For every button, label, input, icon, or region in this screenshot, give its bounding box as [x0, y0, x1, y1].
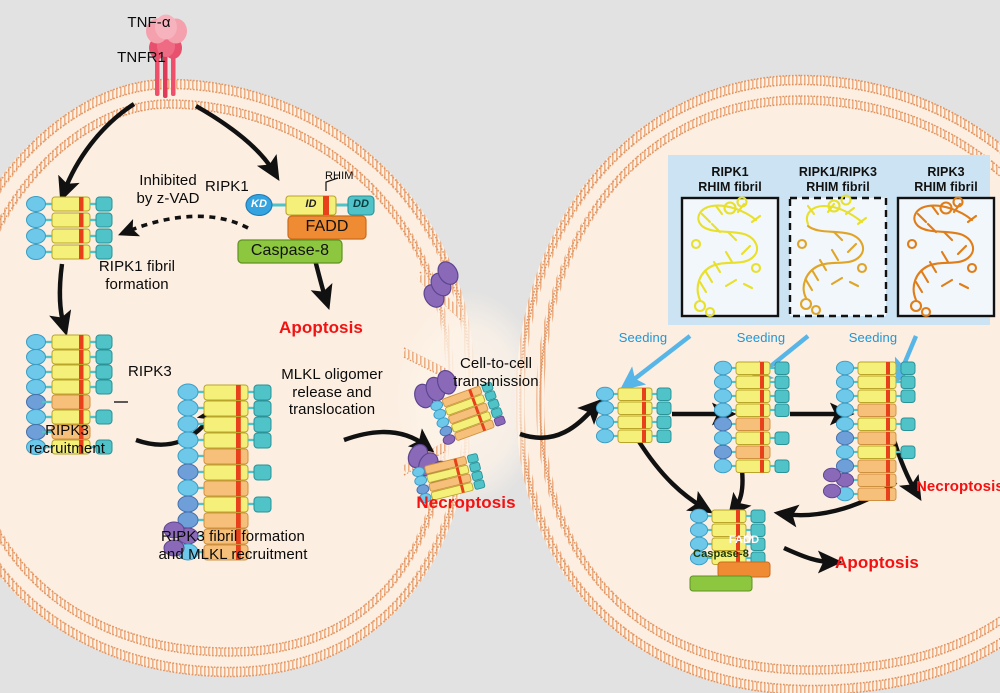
- necroptosis-label-middle: Necroptosis: [406, 493, 526, 513]
- ripk3-recruitment-label: RIPK3 recruitment: [8, 422, 126, 457]
- inset-title-ripk3: RIPK3 RHIM fibril: [898, 165, 994, 195]
- inset-title-ripk1: RIPK1 RHIM fibril: [682, 165, 778, 195]
- mlkl-oligomer-label: MLKL oligomer release and translocation: [272, 366, 392, 419]
- cell-to-cell-transmission-label: Cell-to-cell transmission: [438, 355, 554, 390]
- rhim-domain-label: RHIM: [325, 170, 373, 183]
- ripk3-fibril-formation-label: RIPK3 fibril formation and MLKL recruitm…: [138, 528, 328, 563]
- ripk1-fibril-formation-label: RIPK1 fibril formation: [82, 258, 192, 293]
- fadd-label: FADD: [288, 218, 366, 237]
- kd-domain-label: KD: [246, 198, 272, 211]
- caspase8-label-right: Caspase-8: [690, 548, 752, 561]
- seeding-label-1: Seeding: [610, 330, 676, 345]
- necroptosis-label-right: Necroptosis: [916, 478, 1000, 496]
- fadd-label-right: FADD: [718, 534, 770, 547]
- id-domain-label: ID: [298, 198, 324, 211]
- seeding-label-3: Seeding: [840, 330, 906, 345]
- caspase8-label: Caspase-8: [238, 242, 342, 261]
- diagram-canvas: TNF-α TNFR1 Inhibited by z-VAD RIPK1 RHI…: [0, 0, 1000, 693]
- dd-domain-label: DD: [348, 198, 374, 211]
- tnf-alpha-label: TNF-α: [104, 14, 194, 32]
- ripk3-label: RIPK3: [128, 363, 186, 381]
- seeding-label-2: Seeding: [728, 330, 794, 345]
- apoptosis-label-right: Apoptosis: [824, 553, 930, 573]
- inset-title-ripk1-ripk3: RIPK1/RIPK3 RHIM fibril: [786, 165, 890, 195]
- ripk1-monomer-label: RIPK1: [205, 178, 271, 196]
- diagram-svg: [0, 0, 1000, 693]
- apoptosis-label-left: Apoptosis: [268, 318, 374, 338]
- tnfr1-label: TNFR1: [86, 49, 166, 67]
